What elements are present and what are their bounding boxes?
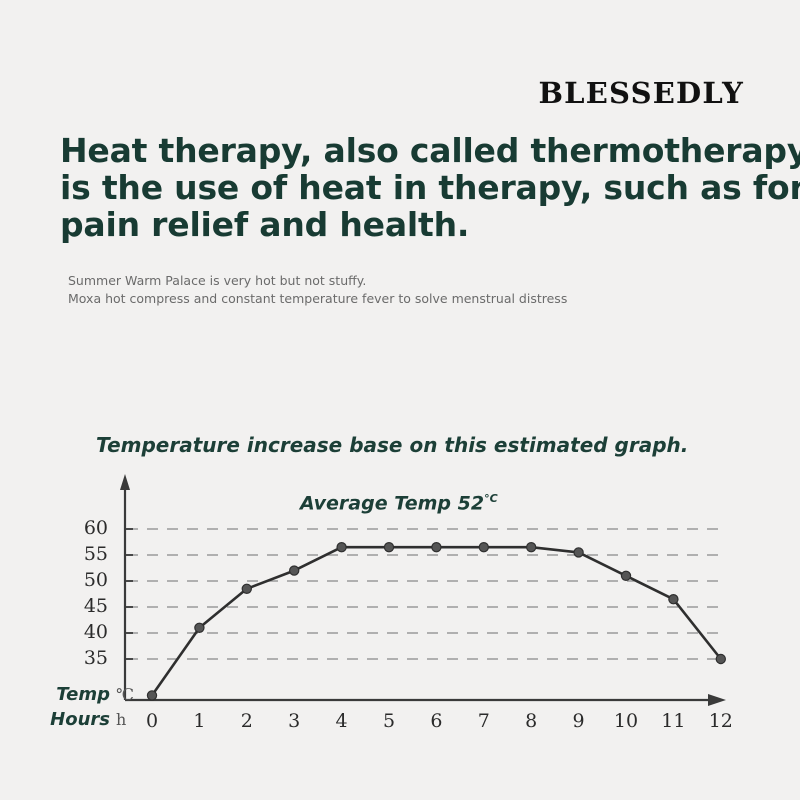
x-axis-tick-label: 6: [416, 712, 456, 731]
y-axis-unit: ℃: [116, 685, 136, 704]
y-axis-arrow-icon: [120, 474, 130, 490]
y-axis-tick-label: 60: [62, 519, 108, 538]
poster-page: BLESSEDLY Heat therapy, also called ther…: [0, 0, 800, 800]
x-axis-tick-label: 5: [369, 712, 409, 731]
x-axis-name-row: Hours h: [26, 709, 136, 734]
y-axis-name: Temp: [56, 684, 110, 705]
chart-annotation-average-temp: Average Temp 52°C: [300, 492, 498, 514]
y-axis-tick-marks: [125, 529, 133, 659]
x-axis-tick-label: 2: [227, 712, 267, 731]
data-point: [621, 571, 630, 580]
data-point: [479, 543, 488, 552]
data-point: [669, 595, 678, 604]
subtitle-text: Summer Warm Palace is very hot but not s…: [68, 272, 567, 308]
temperature-line-chart: [0, 0, 800, 800]
data-point: [384, 543, 393, 552]
headline-line-3: pain relief and health.: [60, 206, 740, 243]
headline-line-1: Heat therapy, also called thermotherapy,: [60, 132, 740, 169]
subtitle-line-1: Summer Warm Palace is very hot but not s…: [68, 272, 567, 290]
chart-data-points: [147, 543, 725, 700]
x-axis-tick-label: 1: [179, 712, 219, 731]
annotation-degree-unit: °C: [484, 492, 498, 505]
brand-logo: BLESSEDLY: [538, 76, 744, 110]
data-point: [195, 623, 204, 632]
data-point: [242, 584, 251, 593]
chart-gridlines: [127, 529, 722, 659]
subtitle-line-2: Moxa hot compress and constant temperatu…: [68, 290, 567, 308]
x-axis-tick-label: 7: [464, 712, 504, 731]
y-axis-name-row: Temp ℃: [26, 684, 136, 709]
x-axis-tick-label: 3: [274, 712, 314, 731]
x-axis-tick-label: 4: [322, 712, 362, 731]
headline-line-2: is the use of heat in therapy, such as f…: [60, 169, 740, 206]
x-axis-tick-label: 9: [559, 712, 599, 731]
page-title: Heat therapy, also called thermotherapy,…: [60, 132, 740, 243]
y-axis-tick-label: 50: [62, 571, 108, 590]
chart-data-line: [152, 547, 721, 695]
x-axis-tick-label: 11: [653, 712, 693, 731]
y-axis-tick-label: 55: [62, 545, 108, 564]
data-point: [527, 543, 536, 552]
x-axis-tick-label: 10: [606, 712, 646, 731]
data-point: [147, 691, 156, 700]
y-axis-tick-label: 40: [62, 623, 108, 642]
x-axis-arrow-icon: [708, 694, 726, 706]
x-axis-tick-label: 12: [701, 712, 741, 731]
annotation-text: Average Temp 52: [300, 492, 484, 514]
axis-name-block: Temp ℃ Hours h: [26, 684, 136, 734]
data-point: [432, 543, 441, 552]
x-axis-unit: h: [116, 710, 136, 729]
x-axis-tick-label: 8: [511, 712, 551, 731]
chart-title: Temperature increase base on this estima…: [96, 433, 688, 457]
x-axis-tick-label: 0: [132, 712, 172, 731]
y-axis-tick-label: 35: [62, 649, 108, 668]
data-point: [337, 543, 346, 552]
data-point: [716, 654, 725, 663]
data-point: [290, 566, 299, 575]
x-axis-name: Hours: [50, 709, 110, 730]
y-axis-tick-label: 45: [62, 597, 108, 616]
data-point: [574, 548, 583, 557]
